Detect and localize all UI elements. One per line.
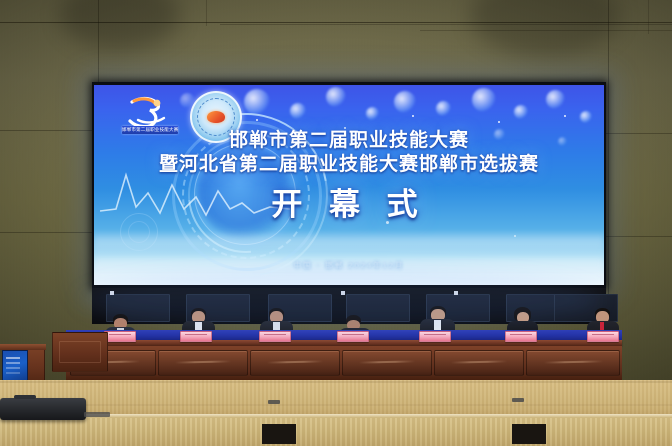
table-panel-segment	[434, 350, 524, 376]
wall-seam-vertical	[648, 0, 649, 34]
sparkle	[564, 115, 566, 117]
bokeh-dot	[436, 101, 451, 116]
backdrop-light-dot	[341, 291, 345, 295]
podium-monitor-lines	[6, 357, 20, 359]
table-panel-segment	[158, 350, 248, 376]
head-table	[66, 338, 622, 380]
seal-inner-mark	[207, 111, 225, 123]
floor-cable	[84, 412, 110, 417]
side-lectern	[52, 332, 108, 372]
led-screen-surface: 邯郸市第二届职业技能大赛 邯郸市第二届职业技能大赛 暨河北省第二届职业技能大赛邯…	[94, 85, 604, 285]
wall-seam-horizontal	[420, 30, 672, 31]
equipment-case	[0, 398, 86, 420]
stage-vent	[512, 424, 546, 444]
bokeh-dot	[472, 88, 496, 112]
floor-seam	[0, 404, 672, 406]
wall-seam-horizontal	[0, 232, 95, 233]
bokeh-dot	[244, 89, 270, 115]
bokeh-dot	[580, 111, 592, 123]
wall-seam-horizontal	[220, 24, 672, 25]
stage-floor	[0, 380, 672, 416]
wall-seam-horizontal	[0, 130, 95, 131]
wall-seam-vertical	[206, 0, 207, 26]
backdrop-light-dot	[454, 291, 458, 295]
name-placard	[259, 331, 291, 342]
conference-hall-scene: 邯郸市第二届职业技能大赛 邯郸市第二届职业技能大赛 暨河北省第二届职业技能大赛邯…	[0, 0, 672, 446]
led-video-wall: 邯郸市第二届职业技能大赛 邯郸市第二届职业技能大赛 暨河北省第二届职业技能大赛邯…	[92, 82, 606, 288]
name-placard	[419, 331, 451, 342]
screen-headline: 开 幕 式	[94, 179, 604, 224]
screen-title-line-2: 暨河北省第二届职业技能大赛邯郸市选拔赛	[94, 149, 604, 176]
name-placard	[587, 331, 619, 342]
bokeh-dot	[290, 103, 306, 119]
wall-seam-horizontal	[600, 133, 672, 134]
floor-seam	[0, 381, 672, 383]
wall-seam-horizontal	[600, 236, 672, 237]
sparkle	[412, 115, 414, 117]
stage-apron	[0, 418, 672, 446]
name-placard	[180, 331, 212, 342]
table-panel-segment	[342, 350, 432, 376]
floor-marker	[512, 398, 524, 402]
bokeh-dot	[326, 87, 346, 107]
screen-footer-text: 中国 · 邯郸 2024年12月	[94, 260, 604, 271]
wall-seam-horizontal	[0, 22, 672, 23]
table-panel-segment	[250, 350, 340, 376]
table-panel-segment	[526, 350, 620, 376]
floor-marker	[268, 400, 280, 404]
backdrop-light-dot	[110, 291, 114, 295]
bokeh-dot	[394, 91, 416, 113]
name-placard	[505, 331, 537, 342]
table-front-panel	[66, 346, 622, 380]
stage-vent	[262, 424, 296, 444]
haze-band	[94, 231, 604, 253]
bokeh-dot	[546, 90, 565, 109]
bokeh-dot	[514, 105, 528, 119]
bokeh-dot	[366, 107, 379, 120]
screen-title-line-1: 邯郸市第二届职业技能大赛	[94, 125, 604, 152]
name-placard	[337, 331, 369, 342]
name-placard	[104, 331, 136, 342]
wall-seam-vertical	[608, 0, 609, 322]
sparkle	[498, 121, 500, 123]
